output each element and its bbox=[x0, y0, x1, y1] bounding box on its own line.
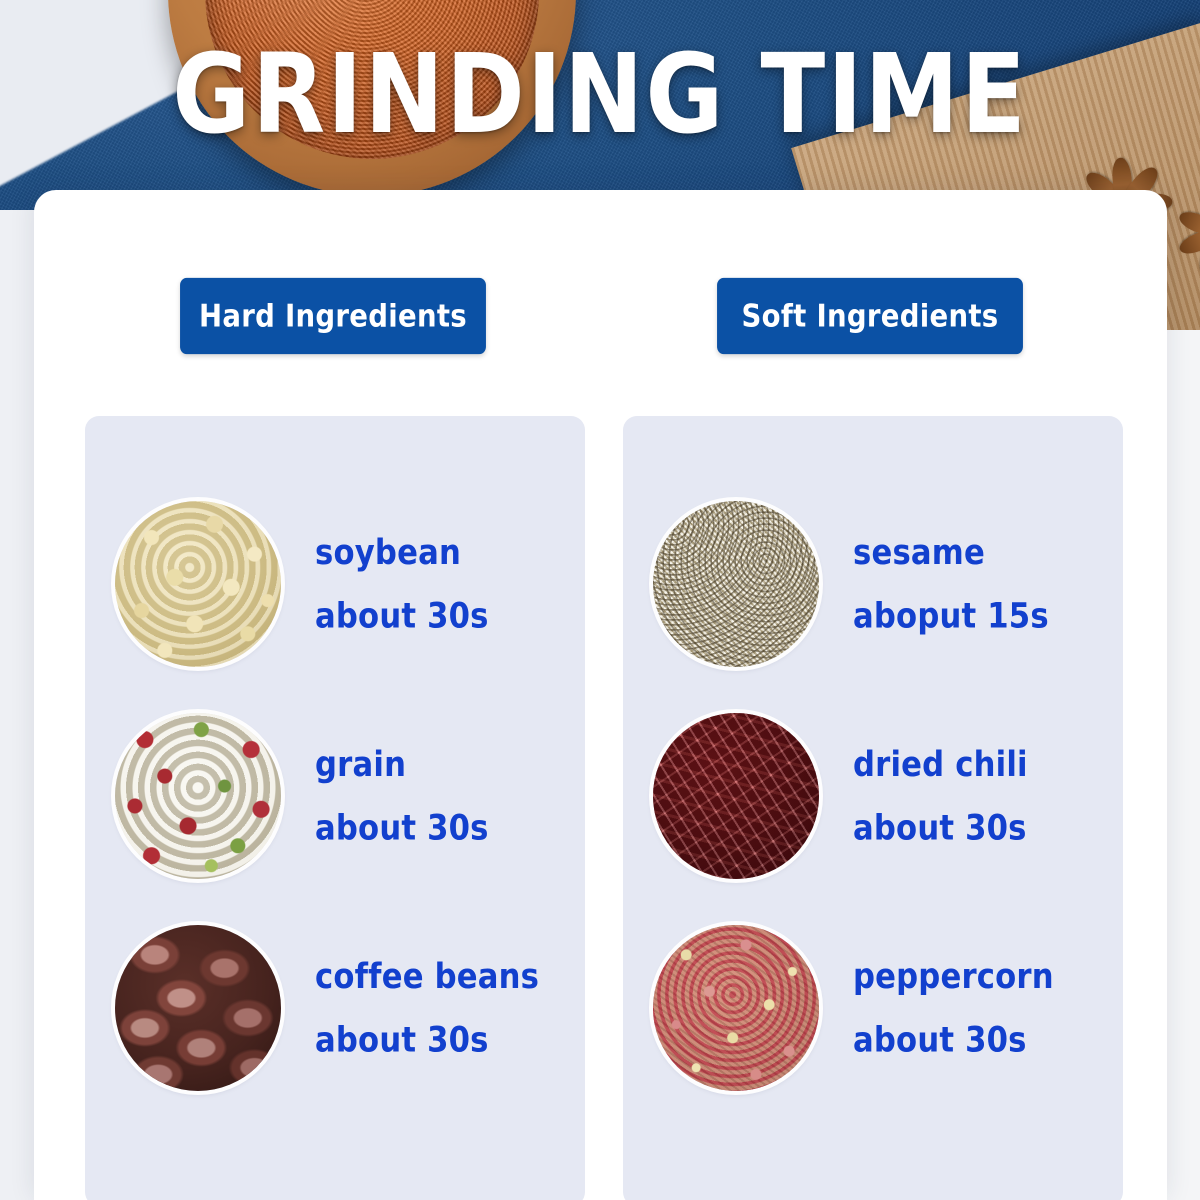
grinding-time: about 30s bbox=[315, 1008, 539, 1072]
grinding-time: about 30s bbox=[853, 1008, 1054, 1072]
grinding-time: aboput 15s bbox=[853, 584, 1049, 648]
content-panel: Hard Ingredients Soft Ingredients soybea… bbox=[34, 190, 1167, 1200]
ingredient-name: dried chili bbox=[853, 732, 1028, 796]
sesame-swatch bbox=[653, 501, 819, 667]
soft-ingredients-list: sesame aboput 15s dried chili about 30s bbox=[623, 416, 1123, 1114]
grinding-time: about 30s bbox=[315, 584, 489, 648]
ingredient-name: peppercorn bbox=[853, 944, 1054, 1008]
hard-ingredients-list: soybean about 30s grain about 30s bbox=[85, 416, 585, 1114]
ingredient-name: grain bbox=[315, 732, 489, 796]
list-item-labels: sesame aboput 15s bbox=[853, 520, 1049, 647]
list-item-labels: grain about 30s bbox=[315, 732, 489, 859]
list-item-labels: peppercorn about 30s bbox=[853, 944, 1054, 1071]
hero-bottom-left-strip bbox=[0, 210, 36, 330]
ingredient-name: coffee beans bbox=[315, 944, 539, 1008]
tab-soft-ingredients[interactable]: Soft Ingredients bbox=[717, 278, 1023, 354]
category-heading-row: Hard Ingredients Soft Ingredients bbox=[34, 280, 1167, 352]
list-item-labels: soybean about 30s bbox=[315, 520, 489, 647]
grinding-time: about 30s bbox=[853, 796, 1028, 860]
soybean-swatch bbox=[115, 501, 281, 667]
page-title: GRINDING TIME bbox=[0, 40, 1200, 150]
list-item[interactable]: grain about 30s bbox=[85, 690, 585, 902]
list-item-labels: dried chili about 30s bbox=[853, 732, 1028, 859]
list-item[interactable]: sesame aboput 15s bbox=[623, 478, 1123, 690]
grinding-time: about 30s bbox=[315, 796, 489, 860]
dried-chili-swatch bbox=[653, 713, 819, 879]
list-item-labels: coffee beans about 30s bbox=[315, 944, 539, 1071]
list-item[interactable]: dried chili about 30s bbox=[623, 690, 1123, 902]
page-background: GRINDING TIME Hard Ingredients Soft Ingr… bbox=[0, 0, 1200, 1200]
list-item[interactable]: soybean about 30s bbox=[85, 478, 585, 690]
coffee-beans-swatch bbox=[115, 925, 281, 1091]
grain-swatch bbox=[115, 713, 281, 879]
list-item[interactable]: coffee beans about 30s bbox=[85, 902, 585, 1114]
soft-ingredients-card: sesame aboput 15s dried chili about 30s bbox=[623, 416, 1123, 1200]
ingredient-name: soybean bbox=[315, 520, 489, 584]
ingredient-name: sesame bbox=[853, 520, 1049, 584]
peppercorn-swatch bbox=[653, 925, 819, 1091]
tab-hard-ingredients[interactable]: Hard Ingredients bbox=[180, 278, 486, 354]
list-item[interactable]: peppercorn about 30s bbox=[623, 902, 1123, 1114]
hard-ingredients-card: soybean about 30s grain about 30s bbox=[85, 416, 585, 1200]
